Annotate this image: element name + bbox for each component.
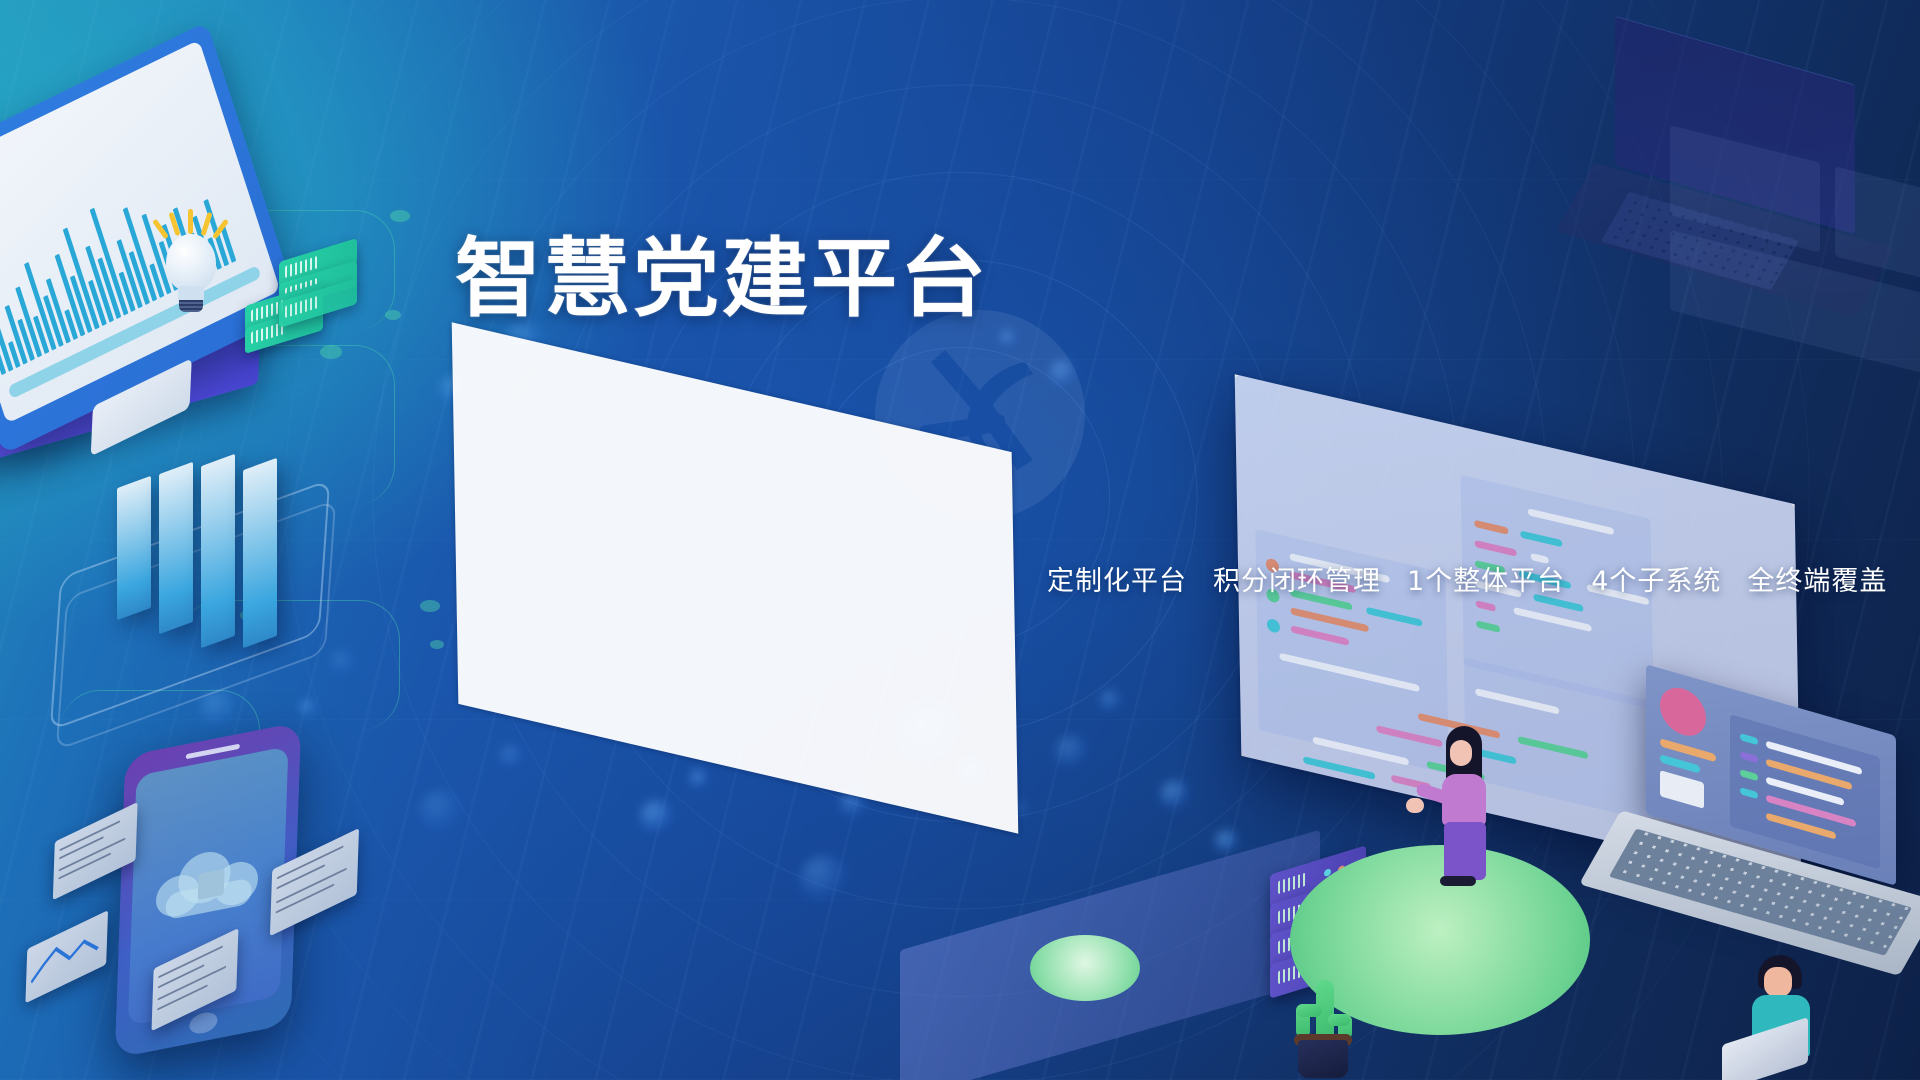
page-title: 智慧党建平台: [455, 236, 1887, 322]
em-dash-rule: [452, 322, 1019, 833]
network-node-0: [390, 210, 410, 222]
person-with-laptop: [1730, 955, 1840, 1080]
subtitle-part-4: 全终端覆盖: [1747, 566, 1887, 597]
subtitle-part-1: 积分闭环管理: [1213, 566, 1381, 597]
chart-card: [25, 910, 108, 1003]
save-icon: [198, 869, 225, 900]
network-node-1: [385, 310, 401, 320]
green-disc-small: [1030, 935, 1140, 1001]
bokeh-circle-5: [420, 790, 464, 834]
subtitle-part-0: 定制化平台: [1047, 566, 1187, 597]
isometric-bar-chart: [55, 460, 355, 700]
subtitle-row: 定制化平台积分闭环管理1个整体平台4个子系统全终端覆盖: [455, 388, 1887, 768]
banner-stage: 智慧党建平台 定制化平台积分闭环管理1个整体平台4个子系统全终端覆盖: [0, 0, 1920, 1080]
bokeh-circle-19: [1215, 830, 1239, 854]
bokeh-circle-8: [640, 800, 674, 834]
subtitle-part-2: 1个整体平台: [1407, 566, 1565, 597]
network-node-5: [430, 640, 444, 649]
bokeh-circle-9: [690, 770, 708, 788]
server-stack-green: [245, 250, 365, 360]
bokeh-circle-4: [300, 700, 316, 716]
bokeh-circle-11: [800, 855, 848, 903]
bokeh-circle-18: [1160, 780, 1190, 810]
potted-cactus: [1290, 980, 1360, 1076]
idea-lightbulb-icon: [148, 212, 232, 322]
hero-text-block: 智慧党建平台 定制化平台积分闭环管理1个整体平台4个子系统全终端覆盖: [455, 236, 1887, 768]
line-chart-icon: [31, 923, 103, 991]
network-node-4: [420, 600, 440, 612]
smartphone-cloud-storage: [115, 722, 301, 1059]
subtitle-part-3: 4个子系统: [1591, 566, 1721, 597]
page-subtitle: 定制化平台积分闭环管理1个整体平台4个子系统全终端覆盖: [1047, 559, 1887, 598]
